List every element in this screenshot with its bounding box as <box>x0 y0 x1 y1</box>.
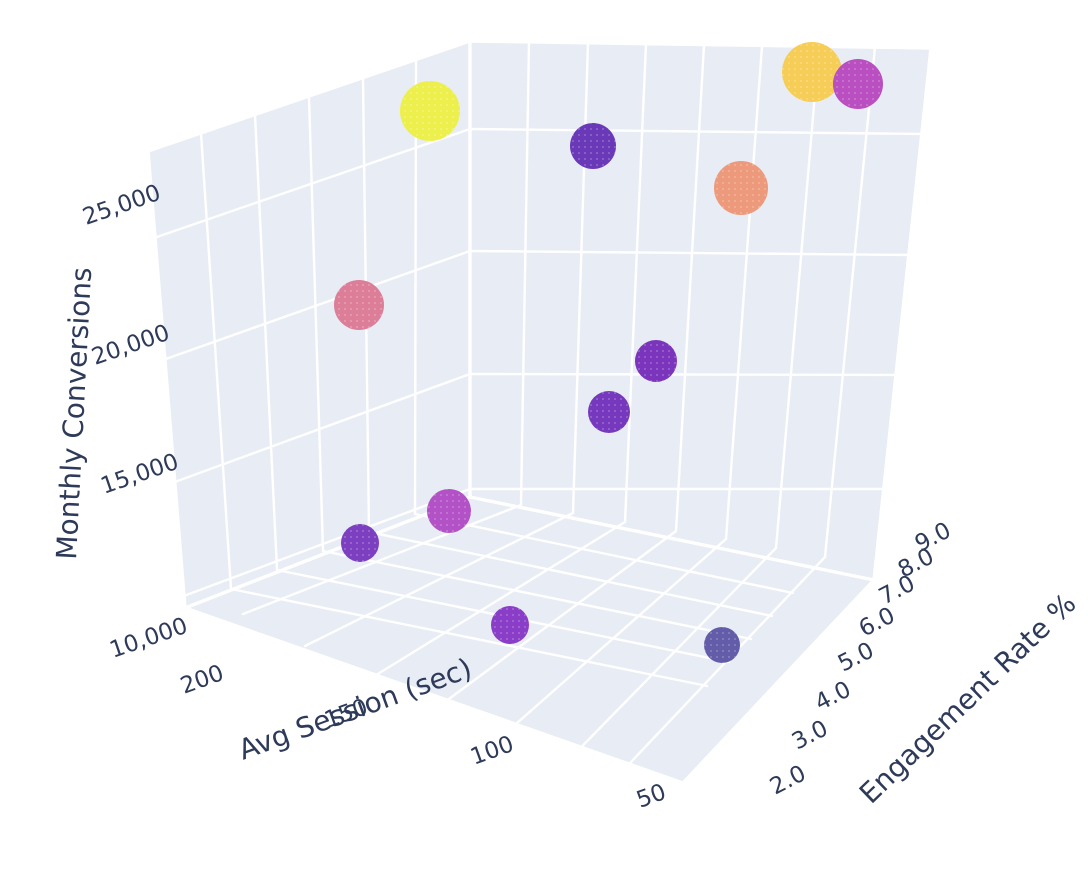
scatter-point[interactable] <box>588 391 630 433</box>
z-tick-label: 25,000 <box>79 180 164 231</box>
scatter-point[interactable] <box>491 606 529 644</box>
scatter-point[interactable] <box>400 81 460 141</box>
x-tick-label: 50 <box>633 779 669 813</box>
plot-canvas: 25,000 20,000 15,000 10,000 Monthly Conv… <box>0 0 1088 878</box>
scatter-point[interactable] <box>334 280 384 330</box>
z-tick-label: 15,000 <box>97 449 182 500</box>
scatter-point-texture <box>341 524 379 562</box>
scatter-point[interactable] <box>833 59 883 109</box>
scatter-point[interactable] <box>570 123 616 169</box>
scatter-point[interactable] <box>427 489 471 533</box>
scatter-point[interactable] <box>782 42 842 102</box>
scatter-point[interactable] <box>635 340 677 382</box>
scatter-point-texture <box>782 42 842 102</box>
scatter-point-texture <box>427 489 471 533</box>
scatter-point-texture <box>833 59 883 109</box>
scatter-point-texture <box>491 606 529 644</box>
z-tick-label: 20,000 <box>88 320 173 371</box>
scatter-point-texture <box>635 340 677 382</box>
y-tick-label: 3.0 <box>788 716 832 756</box>
scatter-point-texture <box>704 627 740 663</box>
x-tick-label: 200 <box>177 660 227 699</box>
scatter-point[interactable] <box>704 627 740 663</box>
y-tick-label: 5.0 <box>834 638 878 678</box>
y-tick-label: 4.0 <box>811 677 855 717</box>
y-tick-label: 2.0 <box>766 761 810 801</box>
scatter3d-figure: 25,000 20,000 15,000 10,000 Monthly Conv… <box>0 0 1088 878</box>
scatter-point-texture <box>334 280 384 330</box>
scatter-point[interactable] <box>714 161 768 215</box>
z-axis-title: Monthly Conversions <box>50 266 98 560</box>
scatter-point[interactable] <box>341 524 379 562</box>
panes <box>148 41 931 783</box>
scatter-point-texture <box>570 123 616 169</box>
x-tick-label: 100 <box>467 731 517 770</box>
z-tick-label: 10,000 <box>106 613 191 664</box>
scatter-point-texture <box>714 161 768 215</box>
y-tick-label: 6.0 <box>855 603 899 643</box>
scatter-point-texture <box>400 81 460 141</box>
scatter-point-texture <box>588 391 630 433</box>
